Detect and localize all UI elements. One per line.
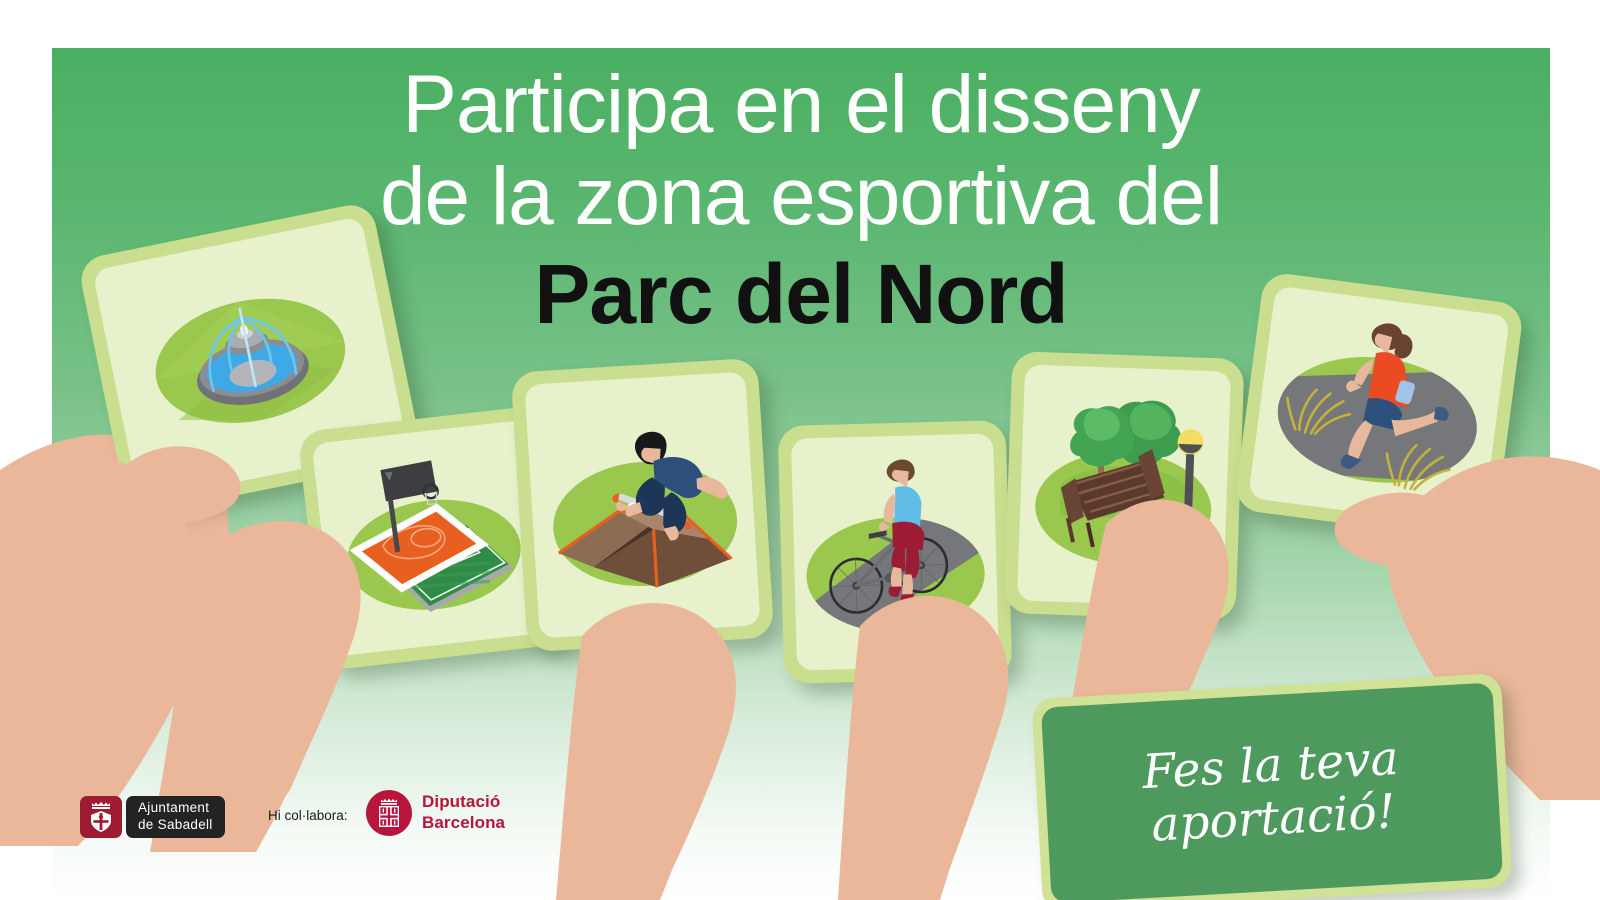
ajuntament-line-1: Ajuntament [138,800,213,817]
collaborate-label: Hi col·labora: [268,808,348,823]
footer-logos: Ajuntament de Sabadell Hi col·labora: [0,792,1600,852]
sabadell-crest-icon [87,801,115,833]
logo-ajuntament-sabadell[interactable]: Ajuntament de Sabadell [80,796,225,838]
ajuntament-name: Ajuntament de Sabadell [126,796,225,838]
diputacio-line-2: Barcelona [422,813,505,834]
logo-diputacio-barcelona[interactable]: Diputació Barcelona [366,790,505,836]
diputacio-crest-icon [374,797,404,829]
hand-skate [556,603,736,900]
diputacio-emblem-icon [366,790,412,836]
diputacio-name: Diputació Barcelona [422,792,505,833]
hand-bike [838,596,1008,900]
poster-canvas: Participa en el disseny de la zona espor… [0,0,1600,900]
diputacio-line-1: Diputació [422,792,505,813]
sabadell-shield-icon [80,796,122,838]
cta-banner[interactable]: Fes la teva aportació! [1031,673,1512,900]
ajuntament-line-2: de Sabadell [138,817,213,834]
